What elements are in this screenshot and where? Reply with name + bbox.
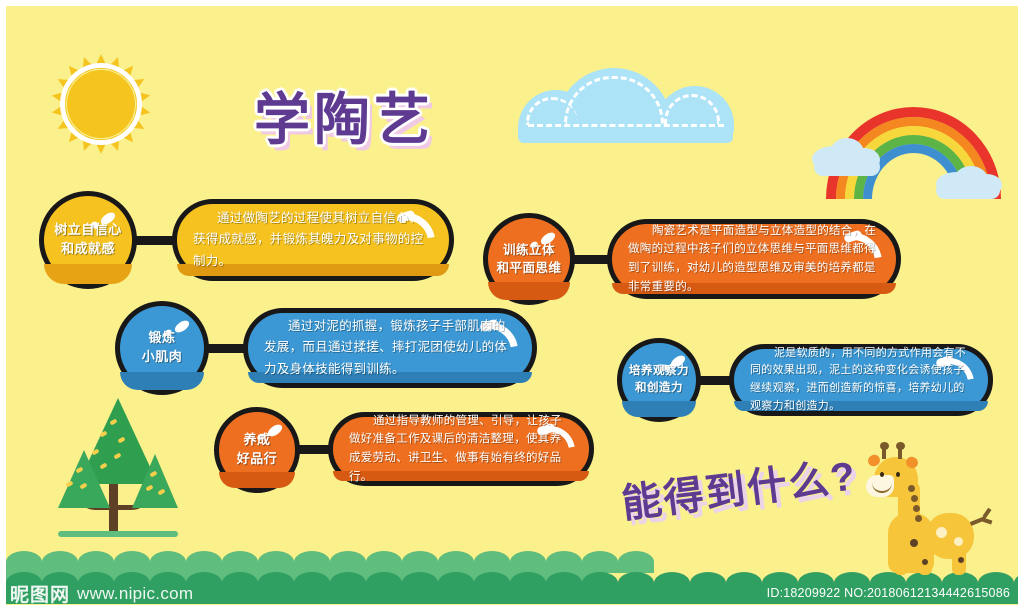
page-subtitle: 能得到什么? bbox=[618, 443, 860, 529]
grass-hump bbox=[186, 551, 222, 573]
grass-hump bbox=[294, 551, 330, 573]
grass-hump bbox=[582, 551, 618, 573]
node-body-text: 陶瓷艺术是平面造型与立体造型的结合，在做陶的过程中孩子们的立体思维与平面思维都得… bbox=[612, 222, 896, 297]
image-id-tag: ID:18209922 NO:20180612134442615086 bbox=[759, 583, 1018, 603]
grass-hump bbox=[726, 572, 762, 594]
node-body-box: 泥是软质的，用不同的方式作用会有不同的效果出现，泥土的这种变化会诱使孩子继续观察… bbox=[729, 344, 993, 416]
grass-hump bbox=[474, 551, 510, 573]
grass-hump bbox=[222, 551, 258, 573]
page-title: 学陶艺 bbox=[254, 92, 434, 148]
grass-hump bbox=[258, 572, 294, 594]
grass-hump bbox=[42, 551, 78, 573]
node-observation-creativity: 泥是软质的，用不同的方式作用会有不同的效果出现，泥土的这种变化会诱使孩子继续观察… bbox=[617, 338, 993, 422]
node-body-text: 通过对泥的抓握，锻炼孩子手部肌肉的发展，而且通过揉搓、摔打泥团使幼儿的体力及身体… bbox=[248, 316, 532, 381]
grass-hump bbox=[438, 572, 474, 594]
grass-hump bbox=[402, 551, 438, 573]
watermark-logo-text: 昵图网 bbox=[10, 580, 70, 607]
node-body-box: 通过指导教师的管理、引导，让孩子做好准备工作及课后的清洁整理，使其养成爱劳动、讲… bbox=[328, 412, 594, 486]
grass-hump bbox=[510, 572, 546, 594]
grass-hump bbox=[150, 551, 186, 573]
grass-hump bbox=[582, 572, 618, 594]
giraffe-icon bbox=[866, 451, 1006, 576]
grass-hump bbox=[222, 572, 258, 594]
node-body-text: 通过指导教师的管理、引导，让孩子做好准备工作及课后的清洁整理，使其养成爱劳动、讲… bbox=[333, 412, 589, 487]
grass-hump bbox=[510, 551, 546, 573]
grass-hump bbox=[6, 551, 42, 573]
poster-canvas: 学陶艺 能得到什么? 通过做陶艺的过程使其树立自信心、获得成就感，并锻炼其魄力及… bbox=[6, 6, 1018, 605]
grass-hump bbox=[294, 572, 330, 594]
node-label-circle: 树立自信心和成就感 bbox=[39, 191, 137, 289]
cloud-icon bbox=[518, 68, 733, 143]
node-label-circle: 培养观察力和创造力 bbox=[617, 338, 701, 422]
grass-hump bbox=[330, 572, 366, 594]
node-label-circle: 锻炼小肌肉 bbox=[115, 301, 209, 395]
grass-hump bbox=[618, 551, 654, 573]
rainbow-icon bbox=[826, 94, 1001, 199]
node-confidence: 通过做陶艺的过程使其树立自信心、获得成就感，并锻炼其魄力及对事物的控制力。 树立… bbox=[39, 191, 454, 289]
node-label-circle: 养成好品行 bbox=[214, 407, 300, 493]
node-good-habits: 通过指导教师的管理、引导，让孩子做好准备工作及课后的清洁整理，使其养成爱劳动、讲… bbox=[214, 407, 594, 491]
node-label-circle: 训练立体和平面思维 bbox=[483, 213, 575, 305]
grass-hump bbox=[402, 572, 438, 594]
node-label-text: 树立自信心和成就感 bbox=[54, 221, 122, 259]
tree-icon bbox=[36, 398, 196, 548]
grass-hump bbox=[474, 572, 510, 594]
grass-hump bbox=[330, 551, 366, 573]
grass-hump bbox=[78, 551, 114, 573]
grass-hump bbox=[654, 572, 690, 594]
grass-hump bbox=[690, 572, 726, 594]
node-label-text: 养成好品行 bbox=[237, 431, 278, 469]
grass-hump bbox=[546, 551, 582, 573]
node-label-text: 训练立体和平面思维 bbox=[496, 241, 561, 277]
node-body-box: 通过做陶艺的过程使其树立自信心、获得成就感，并锻炼其魄力及对事物的控制力。 bbox=[172, 199, 454, 281]
grass-hump bbox=[366, 551, 402, 573]
grass-hump bbox=[366, 572, 402, 594]
node-label-text: 培养观察力和创造力 bbox=[629, 363, 689, 396]
node-small-muscles: 通过对泥的抓握，锻炼孩子手部肌肉的发展，而且通过揉搓、摔打泥团使幼儿的体力及身体… bbox=[115, 301, 537, 395]
sun-icon bbox=[51, 54, 151, 154]
node-body-box: 陶瓷艺术是平面造型与立体造型的结合，在做陶的过程中孩子们的立体思维与平面思维都得… bbox=[607, 219, 901, 299]
node-spatial-thinking: 陶瓷艺术是平面造型与立体造型的结合，在做陶的过程中孩子们的立体思维与平面思维都得… bbox=[483, 213, 901, 305]
poster-root: 学陶艺 能得到什么? 通过做陶艺的过程使其树立自信心、获得成就感，并锻炼其魄力及… bbox=[0, 0, 1024, 611]
grass-hump bbox=[618, 572, 654, 594]
node-body-box: 通过对泥的抓握，锻炼孩子手部肌肉的发展，而且通过揉搓、摔打泥团使幼儿的体力及身体… bbox=[243, 308, 537, 388]
node-label-text: 锻炼小肌肉 bbox=[142, 329, 183, 367]
grass-hump bbox=[258, 551, 294, 573]
grass-hump bbox=[438, 551, 474, 573]
node-body-text: 通过做陶艺的过程使其树立自信心、获得成就感，并锻炼其魄力及对事物的控制力。 bbox=[177, 208, 449, 273]
watermark-url: www.nipic.com bbox=[77, 584, 193, 604]
watermark: 昵图网 www.nipic.com bbox=[10, 580, 193, 607]
grass-hump bbox=[546, 572, 582, 594]
node-body-text: 泥是软质的，用不同的方式作用会有不同的效果出现，泥土的这种变化会诱使孩子继续观察… bbox=[734, 345, 988, 415]
grass-hump bbox=[114, 551, 150, 573]
